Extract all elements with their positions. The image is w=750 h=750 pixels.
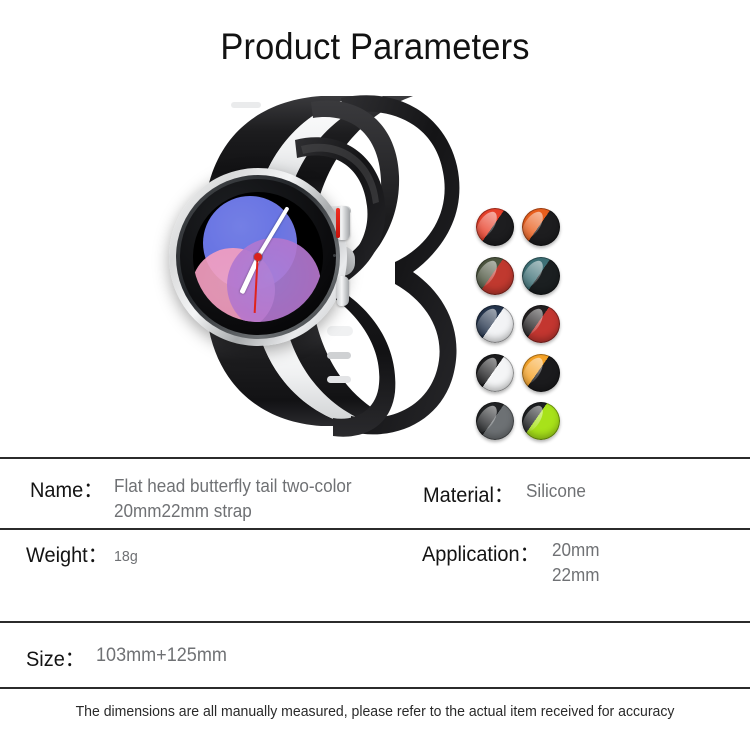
spec-value-application: 20mm 22mm xyxy=(552,538,600,588)
spec-value-application-line1: 20mm xyxy=(552,540,600,560)
spec-row-name: Name： Flat head butterfly tail two-color… xyxy=(30,474,394,524)
spec-label-name: Name： xyxy=(30,474,103,504)
spec-value-name: Flat head butterfly tail two-color 20mm2… xyxy=(114,474,380,524)
color-swatch-black-teal[interactable] xyxy=(522,257,560,295)
divider-bottom xyxy=(0,687,750,689)
color-swatch-lime-black[interactable] xyxy=(522,402,560,440)
dial-center-pin xyxy=(254,253,262,261)
spec-row-size: Size： 103mm+125mm xyxy=(26,643,234,673)
divider-top xyxy=(0,457,750,459)
watch-case xyxy=(169,168,347,346)
color-swatch-black-red[interactable] xyxy=(476,208,514,246)
spec-row-weight: Weight： 18g xyxy=(26,539,139,569)
spec-value-size: 103mm+125mm xyxy=(96,643,227,668)
spec-value-application-line2: 22mm xyxy=(552,565,600,585)
color-swatch-black-amber[interactable] xyxy=(522,354,560,392)
color-option-grid xyxy=(470,208,580,458)
color-option-row xyxy=(470,208,580,246)
color-swatch-red-black[interactable] xyxy=(522,305,560,343)
watch-illustration xyxy=(145,80,475,440)
spec-value-weight: 18g xyxy=(114,544,138,569)
color-option-row xyxy=(470,257,580,295)
divider-third xyxy=(0,621,750,623)
divider-second xyxy=(0,528,750,530)
watch-top-button xyxy=(337,206,350,240)
color-swatch-gray-black[interactable] xyxy=(476,402,514,440)
watch-microphone xyxy=(333,254,336,257)
page-title: Product Parameters xyxy=(26,26,724,68)
spec-label-size: Size： xyxy=(26,643,85,673)
spec-value-material: Silicone xyxy=(526,479,586,504)
watch-bottom-button xyxy=(337,276,349,306)
watch-dial xyxy=(193,192,323,322)
dial-blob-violet xyxy=(227,238,321,322)
spec-row-application: Application： 20mm 22mm xyxy=(422,538,602,588)
color-option-row xyxy=(470,305,580,343)
color-option-row xyxy=(470,354,580,392)
color-swatch-white-navy[interactable] xyxy=(476,305,514,343)
color-option-row xyxy=(470,402,580,440)
spec-label-weight: Weight： xyxy=(26,539,108,569)
spec-label-material: Material： xyxy=(423,479,514,509)
product-parameters-page: Product Parameters xyxy=(0,0,750,750)
color-swatch-red-army-green[interactable] xyxy=(476,257,514,295)
color-swatch-black-orange[interactable] xyxy=(522,208,560,246)
spec-row-material: Material： Silicone xyxy=(423,479,589,509)
product-image xyxy=(0,80,750,450)
spec-label-application: Application： xyxy=(422,538,540,568)
measurement-disclaimer: The dimensions are all manually measured… xyxy=(11,704,739,720)
color-swatch-white-black[interactable] xyxy=(476,354,514,392)
